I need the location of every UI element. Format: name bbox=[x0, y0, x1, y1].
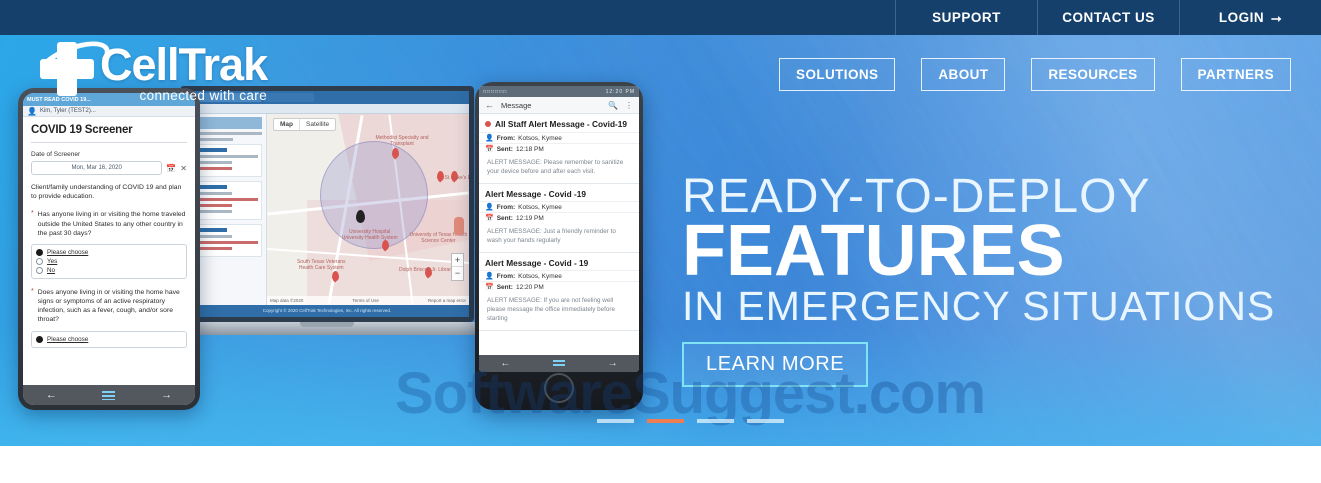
required-asterisk-icon: * bbox=[31, 288, 34, 325]
sent-value: 12:18 PM bbox=[516, 146, 544, 153]
carousel-indicators bbox=[597, 419, 784, 423]
zoom-in-button[interactable]: + bbox=[452, 254, 463, 267]
map-label: University Hospital University Health Sy… bbox=[340, 229, 400, 241]
option-label: Please choose bbox=[47, 249, 88, 256]
carousel-dot-4[interactable] bbox=[747, 419, 784, 423]
calendar-icon: 📅 bbox=[485, 214, 494, 222]
logo-tagline: connected with care bbox=[100, 88, 267, 103]
phone-right-screen: □□□□□□ 12:20 PM ← Message 🔍 ⋮ All Staff … bbox=[479, 86, 639, 372]
map-label: Methodist Specialty and Transplant bbox=[372, 135, 432, 147]
calendar-icon[interactable]: 📅 bbox=[166, 164, 176, 173]
menu-icon[interactable] bbox=[553, 360, 565, 368]
page-root: SUPPORT CONTACT US LOGIN ⭢ CellTrak conn… bbox=[0, 0, 1321, 483]
from-value: Kotsos, Kymee bbox=[518, 273, 562, 280]
map-tab-satellite[interactable]: Satellite bbox=[299, 119, 335, 130]
map-terms-link[interactable]: Terms of Use bbox=[352, 298, 379, 303]
home-button[interactable] bbox=[544, 373, 574, 403]
map-pin[interactable] bbox=[332, 271, 339, 281]
phone-right-nav-bar: ← → bbox=[479, 355, 639, 372]
message-subject: Alert Message - Covid - 19 bbox=[485, 258, 588, 268]
carousel-dot-3[interactable] bbox=[697, 419, 734, 423]
more-vertical-icon[interactable]: ⋮ bbox=[625, 101, 633, 110]
learn-more-button[interactable]: LEARN MORE bbox=[682, 342, 868, 387]
topbar-login-label: LOGIN bbox=[1219, 10, 1264, 25]
map-attribution-bar: Map data ©2020 Terms of Use Report a map… bbox=[267, 296, 469, 305]
date-field-label: Date of Screener bbox=[31, 151, 187, 158]
question-2-text: Does anyone living in or visiting the ho… bbox=[38, 288, 187, 325]
form-instruction-text: Client/family understanding of COVID 19 … bbox=[31, 183, 187, 201]
from-label: From: bbox=[497, 273, 515, 280]
topbar-item-support[interactable]: SUPPORT bbox=[895, 0, 1037, 35]
option-label: Please choose bbox=[47, 336, 88, 343]
person-icon: 👤 bbox=[485, 134, 494, 142]
option-yes[interactable]: Yes bbox=[36, 257, 182, 266]
search-icon[interactable]: 🔍 bbox=[608, 101, 618, 110]
top-utility-bar: SUPPORT CONTACT US LOGIN ⭢ bbox=[0, 0, 1321, 35]
forward-arrow-icon[interactable]: → bbox=[161, 389, 172, 401]
from-label: From: bbox=[497, 135, 515, 142]
message-item[interactable]: Alert Message - Covid - 19 👤 From: Kotso… bbox=[479, 253, 639, 331]
question-2: * Does anyone living in or visiting the … bbox=[31, 288, 187, 325]
sent-value: 12:20 PM bbox=[516, 284, 544, 291]
main-navigation: SOLUTIONS ABOUT RESOURCES PARTNERS bbox=[779, 58, 1291, 91]
topbar-item-contact-us[interactable]: CONTACT US bbox=[1037, 0, 1179, 35]
phone-right-status-bar: □□□□□□ 12:20 PM bbox=[479, 86, 639, 97]
sent-value: 12:19 PM bbox=[516, 215, 544, 222]
question-1-options[interactable]: Please choose Yes No bbox=[31, 244, 187, 279]
message-item[interactable]: Alert Message - Covid -19 👤 From: Kotsos… bbox=[479, 184, 639, 253]
person-icon: 👤 bbox=[485, 203, 494, 211]
radio-icon[interactable] bbox=[36, 336, 43, 343]
browser-url-bar bbox=[185, 104, 469, 114]
forward-arrow-icon[interactable]: → bbox=[608, 358, 618, 369]
message-body: ALERT MESSAGE: Please remember to saniti… bbox=[479, 154, 639, 183]
unread-indicator-icon bbox=[485, 121, 491, 127]
map-zoom-controls[interactable]: + − bbox=[451, 253, 464, 281]
option-please-choose[interactable]: Please choose bbox=[36, 248, 182, 257]
topbar-contact-label: CONTACT US bbox=[1062, 10, 1155, 25]
topbar-item-login[interactable]: LOGIN ⭢ bbox=[1179, 0, 1321, 35]
phone-left-breadcrumb: Kim, Tyler (TEST2)... bbox=[40, 108, 96, 114]
phone-left-nav-bar: ← → bbox=[23, 385, 195, 405]
logo-wordmark: CellTrak bbox=[100, 44, 267, 87]
hero-copy: READY-TO-DEPLOY FEATURES IN EMERGENCY SI… bbox=[682, 172, 1275, 387]
person-icon: 👤 bbox=[485, 272, 494, 280]
map-tab-map[interactable]: Map bbox=[274, 119, 299, 130]
laptop-hinge-notch bbox=[300, 322, 354, 327]
map-pin[interactable] bbox=[382, 240, 389, 250]
message-body: ALERT MESSAGE: If you are not feeling we… bbox=[479, 292, 639, 329]
from-value: Kotsos, Kymee bbox=[518, 135, 562, 142]
message-list[interactable]: All Staff Alert Message - Covid-19 👤 Fro… bbox=[479, 114, 639, 331]
divider bbox=[31, 142, 187, 143]
from-label: From: bbox=[497, 204, 515, 211]
nav-item-partners[interactable]: PARTNERS bbox=[1181, 58, 1291, 91]
option-label: Yes bbox=[47, 258, 57, 265]
status-icons: □□□□□□ bbox=[483, 89, 507, 95]
back-arrow-icon[interactable]: ← bbox=[485, 100, 494, 110]
laptop-footer: Copyright © 2020 CellTrak Technologies, … bbox=[185, 305, 469, 317]
map-label: St. Luke's Emergency bbox=[439, 175, 469, 181]
nav-item-about[interactable]: ABOUT bbox=[921, 58, 1005, 91]
status-clock: 12:20 PM bbox=[606, 89, 635, 95]
logo-text-block: CellTrak connected with care bbox=[100, 44, 267, 103]
option-label: No bbox=[47, 267, 55, 274]
close-icon[interactable]: ✕ bbox=[180, 164, 187, 173]
sent-label: Sent: bbox=[497, 146, 513, 153]
map-label: South Texas Veterans Health Care System bbox=[291, 259, 351, 271]
message-subject: All Staff Alert Message - Covid-19 bbox=[495, 119, 627, 129]
carousel-dot-2[interactable] bbox=[647, 419, 684, 423]
date-of-screener-input[interactable]: Mon, Mar 16, 2020 bbox=[31, 161, 162, 175]
calendar-icon: 📅 bbox=[485, 283, 494, 291]
device-phone-right: □□□□□□ 12:20 PM ← Message 🔍 ⋮ All Staff … bbox=[475, 82, 643, 410]
map-pin-current-location[interactable] bbox=[356, 210, 365, 223]
option-no[interactable]: No bbox=[36, 266, 182, 275]
topbar-support-label: SUPPORT bbox=[932, 10, 1001, 25]
back-arrow-icon[interactable]: ← bbox=[500, 358, 510, 369]
form-title: COVID 19 Screener bbox=[31, 124, 187, 136]
hero-headline-line2: FEATURES bbox=[682, 217, 1275, 286]
device-laptop: Map Satellite Methodist Specialty and Tr… bbox=[172, 86, 482, 361]
message-item[interactable]: All Staff Alert Message - Covid-19 👤 Fro… bbox=[479, 114, 639, 184]
radio-icon[interactable] bbox=[36, 249, 43, 256]
medical-cross-swoosh-icon bbox=[36, 40, 98, 98]
option-please-choose[interactable]: Please choose bbox=[36, 335, 182, 344]
map-report-link[interactable]: Report a map error bbox=[428, 298, 466, 303]
map-panel[interactable]: Map Satellite Methodist Specialty and Tr… bbox=[267, 114, 469, 305]
sent-label: Sent: bbox=[497, 215, 513, 222]
phone-left-screen: MUST READ COVID 19... 👤 Kim, Tyler (TEST… bbox=[23, 93, 195, 405]
nav-item-resources[interactable]: RESOURCES bbox=[1031, 58, 1154, 91]
covid-screener-form: COVID 19 Screener Date of Screener Mon, … bbox=[23, 117, 195, 348]
nav-item-solutions[interactable]: SOLUTIONS bbox=[779, 58, 895, 91]
radio-icon[interactable] bbox=[36, 258, 43, 265]
message-app-bar: ← Message 🔍 ⋮ bbox=[479, 97, 639, 114]
brand-logo[interactable]: CellTrak connected with care bbox=[36, 40, 267, 99]
question-1-text: Has anyone living in or visiting the hom… bbox=[38, 210, 187, 238]
back-arrow-icon[interactable]: ← bbox=[46, 389, 57, 401]
from-value: Kotsos, Kymee bbox=[518, 204, 562, 211]
carousel-dot-1[interactable] bbox=[597, 419, 634, 423]
map-data-label: Map data ©2020 bbox=[270, 298, 303, 303]
message-screen-title: Message bbox=[501, 101, 601, 110]
required-asterisk-icon: * bbox=[31, 210, 34, 238]
map-type-tabs[interactable]: Map Satellite bbox=[273, 118, 336, 131]
radio-icon[interactable] bbox=[36, 267, 43, 274]
login-arrow-icon: ⭢ bbox=[1271, 10, 1282, 26]
zoom-out-button[interactable]: − bbox=[452, 267, 463, 280]
question-1: * Has anyone living in or visiting the h… bbox=[31, 210, 187, 238]
street-view-pegman-icon[interactable] bbox=[454, 217, 464, 235]
question-2-options[interactable]: Please choose bbox=[31, 331, 187, 348]
hero-headline-line3: IN EMERGENCY SITUATIONS bbox=[682, 285, 1275, 328]
message-subject: Alert Message - Covid -19 bbox=[485, 189, 586, 199]
laptop-screen: Map Satellite Methodist Specialty and Tr… bbox=[180, 86, 474, 322]
person-icon: 👤 bbox=[27, 107, 37, 116]
phone-left-breadcrumb-bar: 👤 Kim, Tyler (TEST2)... bbox=[23, 106, 195, 117]
message-body: ALERT MESSAGE: Just a friendly reminder … bbox=[479, 223, 639, 252]
device-phone-left: MUST READ COVID 19... 👤 Kim, Tyler (TEST… bbox=[18, 88, 200, 410]
calendar-icon: 📅 bbox=[485, 145, 494, 153]
sent-label: Sent: bbox=[497, 284, 513, 291]
map-label: Dolph Briscoe Jr. Library bbox=[396, 267, 456, 273]
menu-icon[interactable] bbox=[102, 391, 115, 400]
